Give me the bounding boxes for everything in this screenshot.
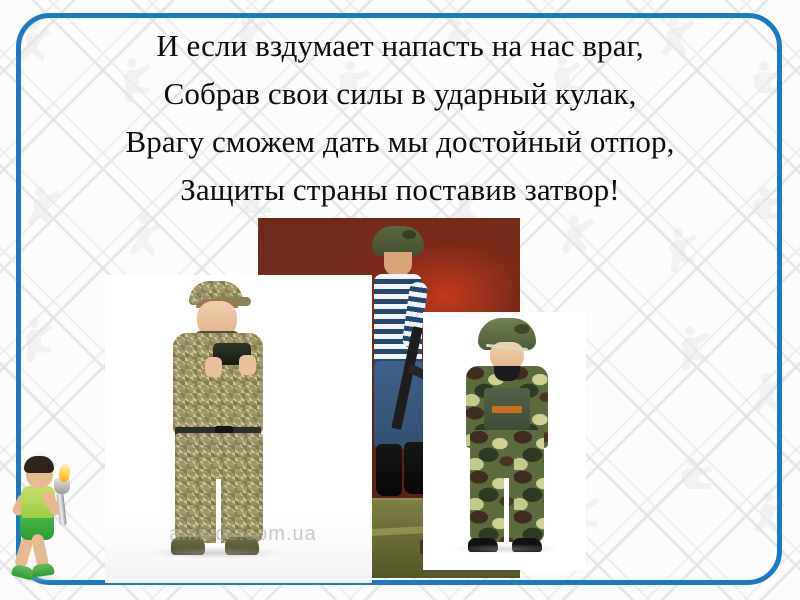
face <box>384 252 412 276</box>
verse-line-4: Защиты страны поставив затвор! <box>0 166 800 214</box>
hand-right <box>239 355 256 375</box>
presentation-slide: И если вздумает напасть на нас враг, Соб… <box>0 0 800 600</box>
verse-line-2: Собрав свои силы в ударный кулак, <box>0 70 800 118</box>
hair <box>24 456 54 473</box>
undershirt <box>494 366 520 381</box>
verse-line-1: И если вздумает напасть на нас враг, <box>0 22 800 70</box>
verse-line-3: Врагу сможем дать мы достойный отпор, <box>0 118 800 166</box>
boot-left <box>376 444 402 496</box>
hand-left <box>205 357 222 377</box>
toddler-soldier-figure <box>456 318 554 560</box>
helmet-camo-spot <box>514 324 530 334</box>
helmet-camo-spot <box>402 230 416 239</box>
floor-shadow <box>151 547 281 559</box>
photo-boy-with-binoculars: amkids.com.ua <box>105 275 372 583</box>
cartoon-torch-runner <box>6 448 92 588</box>
trouser-gap <box>504 478 509 542</box>
photo-watermark: amkids.com.ua <box>143 523 343 546</box>
vest-label <box>492 406 522 413</box>
photo-toddler-in-camo <box>423 312 586 570</box>
floor-shadow <box>451 544 561 554</box>
verse-text-block: И если вздумает напасть на нас враг, Соб… <box>0 22 800 214</box>
torch-handle <box>56 492 67 527</box>
